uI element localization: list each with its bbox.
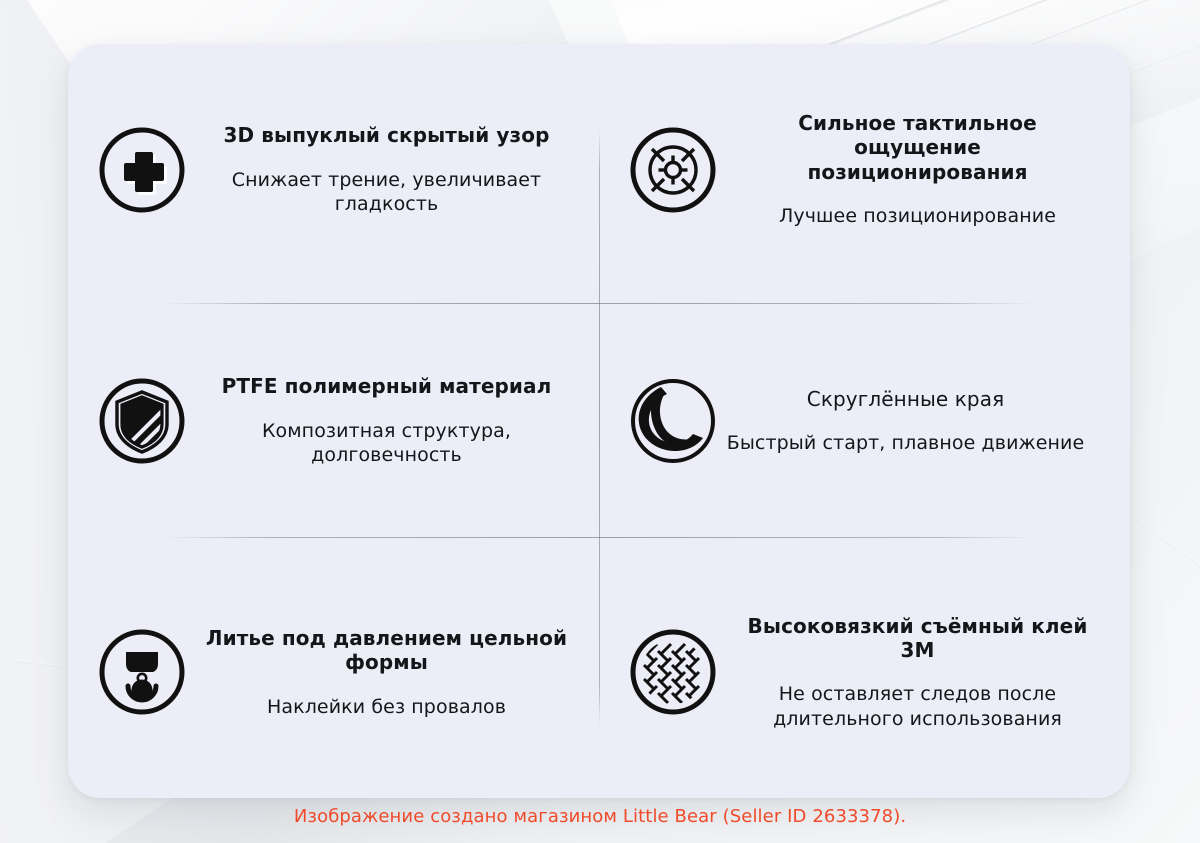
feature-title: Высоковязкий съёмный клей 3М [733,614,1102,663]
feature-text-block: Литье под давлением цельной формы Наклей… [202,626,571,719]
feature-cell-3d-pattern: 3D выпуклый скрытый узор Снижает трение,… [68,44,599,295]
feature-description: Лучшее позиционирование [733,204,1102,228]
feature-text-block: Скруглённые края Быстрый старт, плавное … [709,387,1102,456]
feature-text-block: 3D выпуклый скрытый узор Снижает трение,… [202,123,571,216]
feature-cell-3m-adhesive: Высоковязкий съёмный клей 3М Не оставляе… [599,547,1130,798]
feature-description: Наклейки без провалов [202,695,571,719]
seller-caption: Изображение создано магазином Little Bea… [0,806,1200,827]
shield-icon [96,375,188,467]
plus-cross-icon [96,124,188,216]
divider-vertical [599,130,600,726]
screenshot-stage: 3D выпуклый скрытый узор Снижает трение,… [0,0,1200,843]
feature-cell-rounded-edges: Скруглённые края Быстрый старт, плавное … [599,295,1130,546]
feature-card: 3D выпуклый скрытый узор Снижает трение,… [68,44,1130,798]
woven-texture-icon [627,626,719,718]
feature-text-block: Сильное тактильное ощущение позициониров… [733,111,1102,228]
feature-title: Скруглённые края [709,387,1102,411]
feature-cell-tactile-positioning: Сильное тактильное ощущение позициониров… [599,44,1130,295]
feature-cell-ptfe-material: PTFE полимерный материал Композитная стр… [68,295,599,546]
feature-title: Сильное тактильное ощущение позициониров… [733,111,1102,184]
feature-description: Композитная структура, долговечность [202,419,571,468]
feature-text-block: PTFE полимерный материал Композитная стр… [202,374,571,467]
feature-title: Литье под давлением цельной формы [202,626,571,675]
feature-description: Снижает трение, увеличивает гладкость [202,168,571,217]
feature-description: Не оставляет следов после длительного ис… [733,682,1102,731]
rounded-edge-swoosh-icon [627,375,719,467]
feature-title: PTFE полимерный материал [202,374,571,398]
crosshair-target-icon [627,124,719,216]
feature-cell-injection-molding: Литье под давлением цельной формы Наклей… [68,547,599,798]
feature-title: 3D выпуклый скрытый узор [202,123,571,147]
injection-mold-press-icon [96,626,188,718]
feature-text-block: Высоковязкий съёмный клей 3М Не оставляе… [733,614,1102,731]
feature-description: Быстрый старт, плавное движение [709,431,1102,455]
